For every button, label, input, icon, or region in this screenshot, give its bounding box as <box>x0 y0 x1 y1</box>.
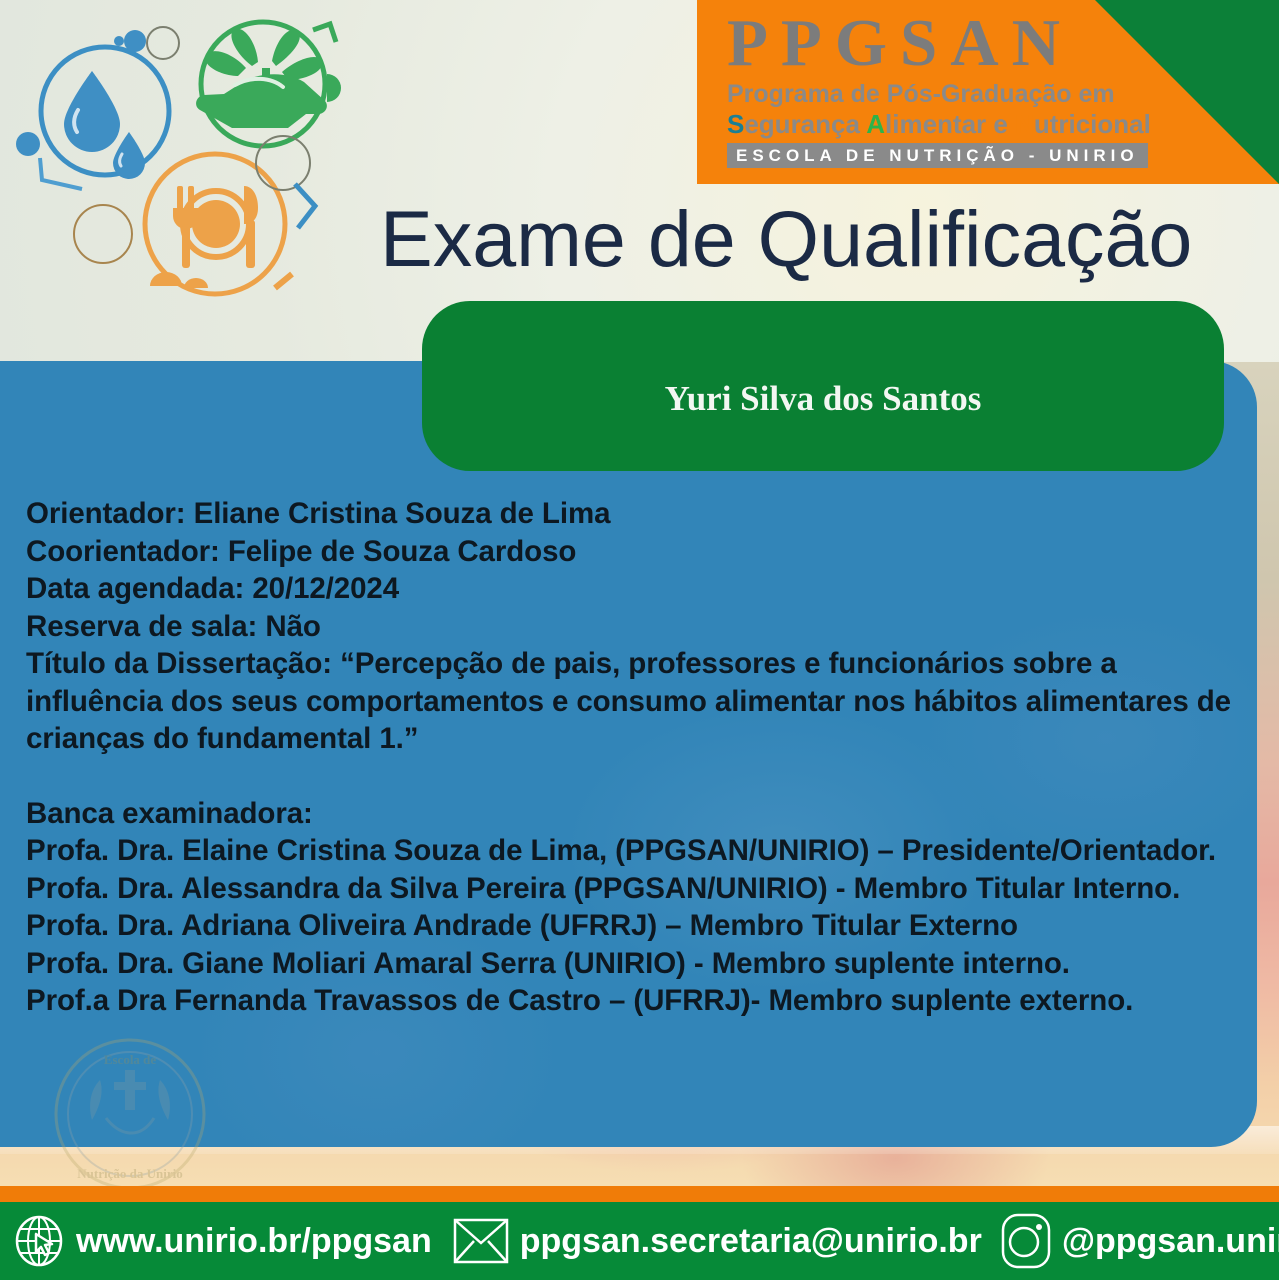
envelope-icon <box>452 1214 510 1268</box>
dash-orange-icon <box>275 274 292 288</box>
bracket-left-icon <box>40 158 82 189</box>
board-member: Profa. Dra. Alessandra da Silva Pereira … <box>26 870 1261 908</box>
footer-website-text: www.unirio.br/ppgsan <box>76 1222 432 1260</box>
student-name: Yuri Silva dos Santos <box>665 379 982 419</box>
bowl-small-icon <box>184 278 208 288</box>
brand-n-letter: N <box>1015 109 1034 139</box>
footer-instagram-item[interactable]: @ppgsan.unirio <box>1000 1212 1279 1270</box>
board-member: Prof.a Dra Fernanda Travassos de Castro … <box>26 982 1261 1020</box>
bubble-outline-icon <box>147 27 179 59</box>
circle-outline-bottom-icon <box>74 205 132 263</box>
footer-instagram-text: @ppgsan.unirio <box>1062 1222 1279 1260</box>
plate-center-icon <box>192 200 240 248</box>
water-drop-small-icon <box>113 132 145 179</box>
green-halfdot-icon <box>327 74 341 102</box>
brand-acronym: PPGSAN <box>727 6 1157 80</box>
brand-a-letter: A <box>866 109 885 139</box>
page-title: Exame de Qualificação <box>380 196 1260 282</box>
instagram-icon <box>1000 1212 1052 1270</box>
ppgsan-brand-band: PPGSAN Programa de Pós-Graduação em Segu… <box>697 0 1279 184</box>
details-block: Orientador: Eliane Cristina Souza de Lim… <box>26 495 1261 1020</box>
bowl-icon <box>150 272 182 286</box>
brand-text-block: PPGSAN Programa de Pós-Graduação em Segu… <box>727 6 1157 168</box>
san-icon-cluster <box>10 6 350 326</box>
footer-orange-stripe <box>0 1186 1279 1202</box>
footer-website-item[interactable]: www.unirio.br/ppgsan <box>12 1214 432 1268</box>
brand-subtitle-line1: Programa de Pós-Graduação em <box>727 80 1157 109</box>
brand-limentar: limentar e <box>885 109 1015 139</box>
san-icons-svg <box>10 6 350 326</box>
brand-s-letter: S <box>727 109 744 139</box>
footer-bar: www.unirio.br/ppgsan ppgsan.secretaria@u… <box>0 1202 1279 1280</box>
board-member: Profa. Dra. Adriana Oliveira Andrade (UF… <box>26 907 1261 945</box>
board-heading: Banca examinadora: <box>26 795 1261 833</box>
brand-utricional: utricional <box>1034 109 1151 139</box>
advisor-line: Orientador: Eliane Cristina Souza de Lim… <box>26 495 1261 533</box>
paragraph-spacer <box>26 758 1261 795</box>
bracket-green-icon <box>313 24 336 42</box>
date-line: Data agendada: 20/12/2024 <box>26 570 1261 608</box>
thesis-title-line: Título da Dissertação: “Percepção de pai… <box>26 645 1261 758</box>
globe-cursor-icon <box>12 1214 66 1268</box>
room-line: Reserva de sala: Não <box>26 608 1261 646</box>
coadvisor-line: Coorientador: Felipe de Souza Cardoso <box>26 533 1261 571</box>
board-member: Profa. Dra. Giane Moliari Amaral Serra (… <box>26 945 1261 983</box>
poster-root: PPGSAN Programa de Pós-Graduação em Segu… <box>0 0 1279 1280</box>
brand-school-label: ESCOLA DE NUTRIÇÃO - UNIRIO <box>727 143 1148 168</box>
brand-eguranca: egurança <box>744 109 866 139</box>
footer-email-text: ppgsan.secretaria@unirio.br <box>520 1222 982 1260</box>
board-member: Profa. Dra. Elaine Cristina Souza de Lim… <box>26 832 1261 870</box>
bubble-small-icon <box>114 36 124 46</box>
bubble-icon <box>124 30 146 52</box>
bracket-right-icon <box>295 184 315 228</box>
water-drop-icon <box>64 71 120 152</box>
knife-icon <box>244 186 258 268</box>
student-name-pill: Yuri Silva dos Santos <box>422 301 1224 471</box>
footer-email-item[interactable]: ppgsan.secretaria@unirio.br <box>452 1214 982 1268</box>
bubble-left-icon <box>16 132 40 156</box>
brand-subtitle-line2: Segurança Alimentar e Nutricional <box>727 109 1157 139</box>
